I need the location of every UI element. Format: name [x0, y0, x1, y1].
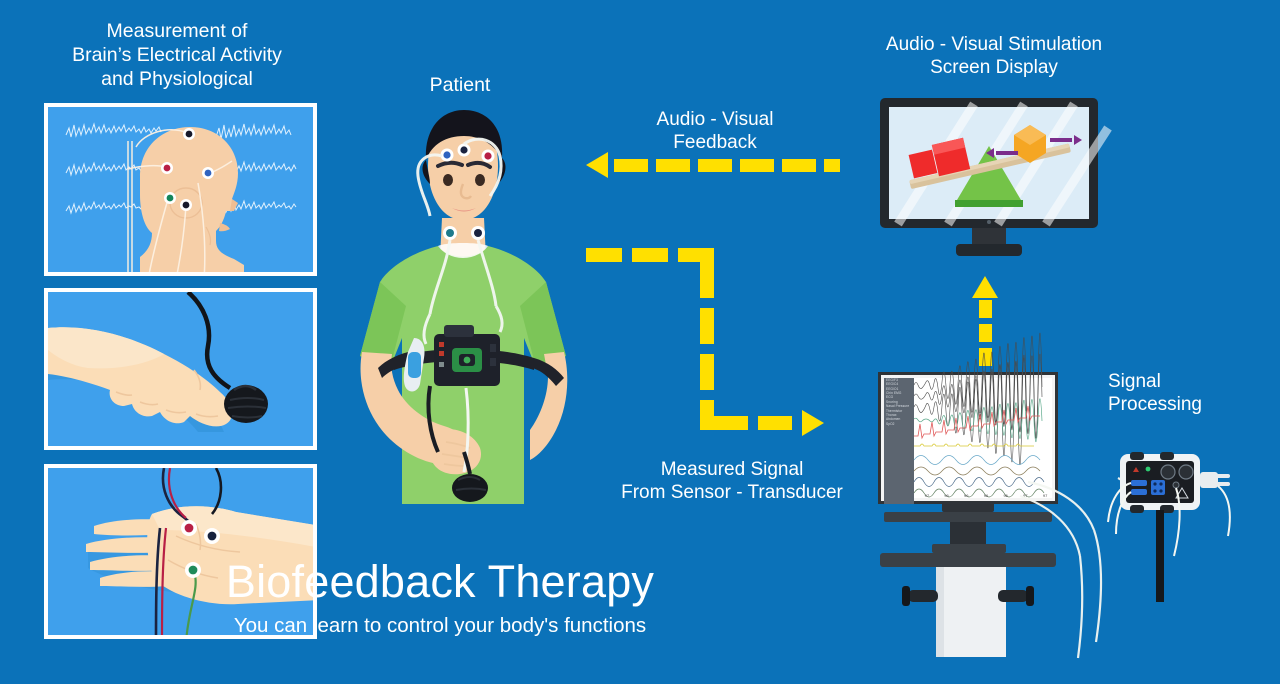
display-monitor-illustration: [878, 96, 1100, 264]
signal-processing-station: EEG/F3 EEG/C4 EEG/O1 Chin EMG ECG Snorin…: [878, 372, 1058, 684]
handheld-transducer: [452, 474, 488, 502]
spo2-value: 96: [984, 493, 988, 498]
infographic-canvas: Measurement of Brain’s Electrical Activi…: [0, 0, 1280, 684]
patient-illustration: [318, 100, 608, 520]
hand-electrode-illustration: [48, 468, 313, 635]
biofeedback-recorder-device: [434, 325, 500, 386]
patient-label: Patient: [390, 74, 530, 98]
power-plug: [1200, 472, 1230, 488]
spo2-value: 96: [944, 493, 948, 498]
signal-processing-label: Signal Processing: [1108, 370, 1258, 416]
head-profile-shape: [140, 127, 244, 272]
measured-signal-arrow: [586, 248, 846, 456]
display-monitor: [878, 96, 1100, 264]
eeg-head-illustration: [48, 107, 313, 272]
measured-signal-label: Measured Signal From Sensor - Transducer: [598, 458, 866, 504]
patient-figure: [318, 100, 608, 520]
signal-amplifier-box: [1118, 452, 1196, 514]
arrow-head-up: [972, 276, 998, 298]
psg-channel: SpO2: [884, 422, 914, 426]
audio-visual-feedback-arrow: [586, 152, 834, 178]
page-subtitle: You can learn to control your body's fun…: [0, 614, 880, 638]
eeg-head-panel: [44, 103, 317, 276]
amplifier-illustration: [1118, 452, 1236, 602]
eeg-head-panel-inner: [48, 107, 313, 272]
arrow-head-left: [586, 152, 608, 178]
hand-grip-illustration: [48, 292, 313, 446]
hand-grip-sensor-panel-inner: [48, 292, 313, 446]
psg-channel-list: EEG/F3 EEG/C4 EEG/O1 Chin EMG ECG Snorin…: [884, 378, 914, 504]
patient-head: [423, 110, 506, 220]
measurement-label: Measurement of Brain’s Electrical Activi…: [12, 20, 342, 91]
audio-visual-feedback-label: Audio - Visual Feedback: [620, 108, 810, 154]
hand-electrode-panel: [44, 464, 317, 639]
arrow-head-right: [802, 410, 824, 436]
spo2-value: 96: [964, 493, 968, 498]
page-title: Biofeedback Therapy: [0, 556, 880, 608]
signal-to-display-arrow: [972, 276, 998, 366]
hand-grip-sensor-panel: [44, 288, 317, 450]
audio-visual-stimulation-label: Audio - Visual Stimulation Screen Displa…: [848, 33, 1140, 79]
spo2-value: 97: [925, 493, 929, 498]
transducer-bulb-sensor: [224, 385, 268, 423]
hand-electrode-panel-inner: [48, 468, 313, 635]
